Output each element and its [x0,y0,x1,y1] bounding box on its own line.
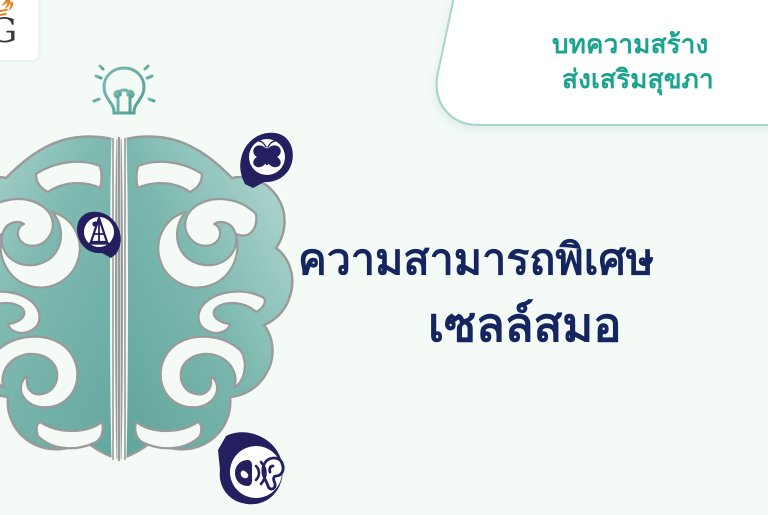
page-title: ความสามารถพิเศษ เซลล์สมอ [298,236,768,353]
banner-line-2: ส่งเสริมสุขภา [552,63,768,98]
headline-line-1: ความสามารถพิเศษ [298,236,768,284]
speech-ear-icon [216,428,294,510]
brand-logo[interactable]: G [0,0,38,60]
banner-line-1: บทความสร้าง [552,28,768,63]
logo-letter: G [0,14,17,48]
headline-line-2: เซลล์สมอ [298,284,768,353]
poster-canvas: บทความสร้าง ส่งเสริมสุขภา G [0,0,768,515]
header-banner: บทความสร้าง ส่งเสริมสุขภา [466,0,768,126]
butterfly-icon [237,128,295,190]
lightbulb-icon [88,56,160,134]
music-stand-icon [76,208,124,260]
